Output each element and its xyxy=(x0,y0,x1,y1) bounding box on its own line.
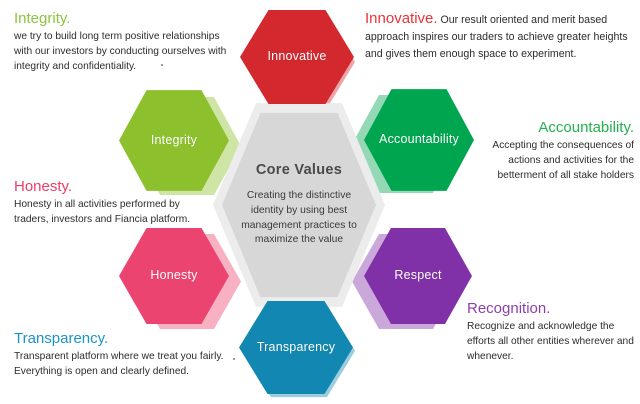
note-integrity: Integrity. we try to build long term pos… xyxy=(14,10,230,75)
note-recognition-body: Recognize and acknowledge the efforts al… xyxy=(467,320,635,364)
hexagon-integrity-label: Integrity xyxy=(151,134,197,148)
note-transparency-title: Transparency. xyxy=(14,330,242,347)
note-transparency-body: Transparent platform where we treat you … xyxy=(14,350,242,380)
speck-mark xyxy=(161,64,163,66)
hexagon-accountability-label: Accountability xyxy=(379,133,459,147)
note-innovative-title: Innovative. xyxy=(365,10,438,27)
note-recognition: Recognition. Recognize and acknowledge t… xyxy=(467,300,635,365)
core-values-diagram: Core Values Creating the distinctive ide… xyxy=(0,0,640,404)
note-transparency: Transparency. Transparent platform where… xyxy=(14,330,242,380)
center-title: Core Values xyxy=(256,162,342,178)
note-honesty-title: Honesty. xyxy=(14,178,210,195)
note-accountability: Accountability. Accepting the consequenc… xyxy=(472,119,634,184)
note-accountability-body: Accepting the consequences of actions an… xyxy=(472,139,634,183)
note-innovative: Innovative. Our result oriented and meri… xyxy=(365,10,633,63)
hexagon-respect-label: Respect xyxy=(394,269,441,283)
hexagon-transparency-label: Transparency xyxy=(257,341,335,355)
note-accountability-title: Accountability. xyxy=(472,119,634,136)
speck-mark xyxy=(233,358,235,360)
center-description: Creating the distinctive identity by usi… xyxy=(235,189,363,247)
note-integrity-body: we try to build long term positive relat… xyxy=(14,30,230,74)
hexagon-innovative-label: Innovative xyxy=(268,50,327,64)
note-integrity-title: Integrity. xyxy=(14,10,230,27)
hexagon-honesty-label: Honesty xyxy=(150,269,197,283)
note-honesty-body: Honesty in all activities performed by t… xyxy=(14,198,210,228)
note-honesty: Honesty. Honesty in all activities perfo… xyxy=(14,178,210,228)
note-recognition-title: Recognition. xyxy=(467,300,635,317)
